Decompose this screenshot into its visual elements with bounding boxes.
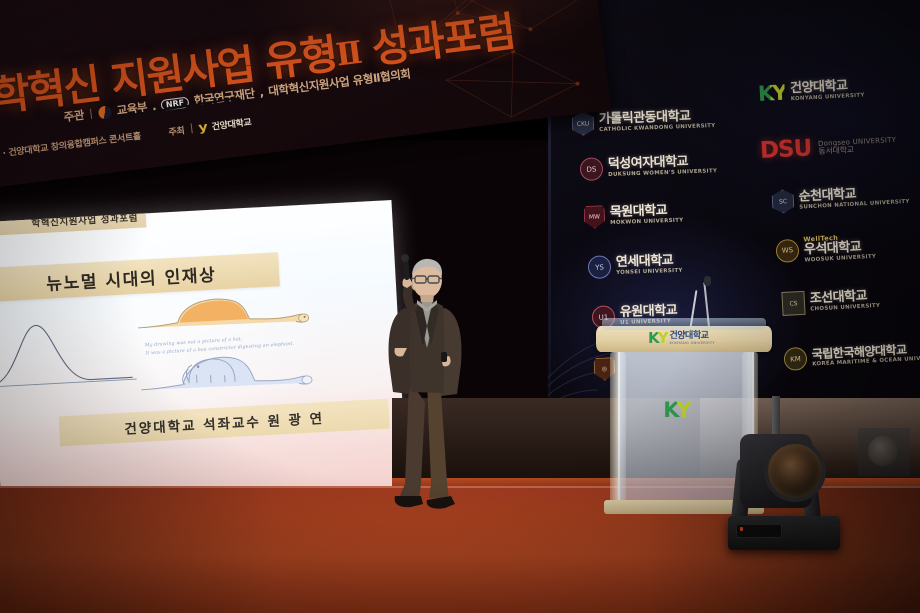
- slide-footer-band: 건양대학교 석좌교수 원 광 연: [59, 399, 390, 447]
- logo-yonsei: YS 연세대학교 YONSEI UNIVERSITY: [588, 253, 683, 279]
- projection-screen: 학혁신지원사업 성과포럼 뉴노멀 시대의 인재상: [0, 200, 407, 518]
- banner-title-roman: Ⅱ: [334, 35, 362, 74]
- bell-curve-chart: [0, 310, 137, 398]
- host-label: 주최: [168, 123, 185, 138]
- catholic-kwandong-crest-icon: CKU: [572, 111, 595, 136]
- host-name: 건양대학교: [211, 114, 252, 132]
- light-control-panel: [736, 524, 782, 538]
- dongseo-dsu-icon: DSU: [759, 137, 811, 163]
- mokwon-crest-icon: MW: [584, 205, 606, 229]
- logo-chosun: CS 조선대학교 CHOSUN UNIVERSITY: [781, 287, 880, 316]
- divider-bar: [90, 109, 92, 119]
- banner-host-line: 소 · 건양대학교 창의융합캠퍼스 콘서트홀 주최 y 건양대학교: [0, 114, 252, 161]
- yonsei-crest-icon: YS: [588, 255, 612, 279]
- organizer-label: 주관: [63, 107, 85, 125]
- logo-name-kr: 목원대학교: [610, 204, 684, 220]
- event-banner: 학혁신 지원사업 유형Ⅱ 성과포럼 주관 교육부 , NRF 한국연구재단 , …: [0, 0, 611, 192]
- ministry-taegeuk-icon: [98, 105, 113, 120]
- light-head: [740, 434, 812, 508]
- logo-duksung-womens: DS 덕성여자대학교 DUKSUNG WOMEN'S UNIVERSITY: [580, 153, 718, 181]
- podium-plate-kr: 건양대학교: [670, 332, 715, 341]
- moving-head-light: [720, 418, 848, 566]
- logo-mokwon: MW 목원대학교 MOKWON UNIVERSITY: [584, 203, 684, 229]
- speaker-cone-icon: [868, 436, 898, 466]
- podium-badge-k: K: [663, 398, 676, 422]
- logo-woosuk: WS WellTech 우석대학교 WOOSUK UNIVERSITY: [775, 233, 876, 265]
- chosun-crest-icon: CS: [781, 291, 805, 316]
- sunchon-crest-icon: SC: [771, 189, 794, 214]
- banner-place: 소 · 건양대학교 창의융합캠퍼스 콘서트홀: [0, 128, 141, 160]
- korea-maritime-crest-icon: KM: [783, 347, 807, 371]
- light-status-led: [740, 527, 743, 531]
- podium-emblem: KY: [646, 400, 706, 421]
- podium-badge-y: Y: [677, 398, 689, 422]
- podium-nameplate: KY 건양대학교 KONYANG UNIVERSITY: [648, 331, 715, 346]
- podium-ky-icon: KY: [648, 331, 667, 346]
- logo-name-kr: 동서대학교: [818, 144, 896, 156]
- speaker-person: [375, 252, 479, 510]
- konyang-y-icon: y: [198, 119, 209, 134]
- podium-microphone-icon: [704, 276, 711, 286]
- logo-name-en: MOKWON UNIVERSITY: [610, 219, 684, 227]
- podium-acrylic-lip: [602, 318, 766, 330]
- woosuk-crest-icon: WS: [775, 239, 799, 263]
- stage-photo: CKU 가톨릭관동대학교 CATHOLIC KWANDONG UNIVERSIT…: [0, 0, 920, 613]
- konyang-ky-icon: KY: [757, 83, 786, 105]
- divider-bar: [191, 123, 193, 133]
- podium-plate-en: KONYANG UNIVERSITY: [670, 342, 715, 346]
- duksung-crest-icon: DS: [580, 157, 604, 181]
- logo-name-kr: 연세대학교: [616, 254, 683, 269]
- slide-header-band: 학혁신지원사업 성과포럼: [0, 205, 147, 238]
- logo-name-en: CHOSUN UNIVERSITY: [810, 304, 880, 313]
- light-truss-stem: [772, 396, 780, 434]
- logo-name-en: YONSEI UNIVERSITY: [616, 269, 683, 277]
- light-lens-icon: [764, 440, 826, 502]
